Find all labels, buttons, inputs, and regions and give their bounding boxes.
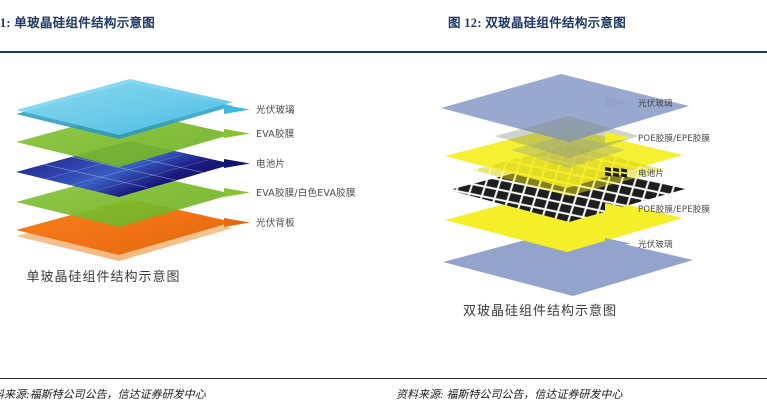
arrow-icon-eva-upper — [224, 127, 250, 140]
arrow-icon-eva-lower — [224, 186, 250, 199]
arrow-icon-cells — [605, 166, 631, 179]
callout-solar-cells: 电池片 — [605, 166, 664, 179]
source-note-right: 资料来源: 福斯特公司公告，信达证券研发中心 — [396, 386, 622, 402]
callout-label-text: 光伏背板 — [256, 215, 295, 229]
callout-poe-epe-upper: POE胶膜/EPE胶膜 — [605, 131, 710, 144]
callout-label-text: 光伏玻璃 — [638, 238, 673, 250]
callout-solar-cells: 电池片 — [224, 156, 285, 170]
figure-footer-left: 料来源:福斯特公司公告，信达证券研发中心 — [0, 376, 383, 418]
figure-title-right: 图 12: 双玻晶硅组件结构示意图 — [448, 14, 626, 32]
callout-label-text: POE胶膜/EPE胶膜 — [638, 203, 710, 215]
arrow-icon-glass-top — [605, 96, 631, 109]
arrow-icon-glass — [224, 103, 250, 116]
diagram-caption-right: 双玻晶硅组件结构示意图 — [348, 300, 732, 319]
figure-header-right: 图 12: 双玻晶硅组件结构示意图 — [383, 14, 767, 38]
callout-label-text: POE胶膜/EPE胶膜 — [638, 132, 710, 144]
callout-eva-film-upper: EVA胶膜 — [224, 126, 294, 140]
callout-photovoltaic-backsheet: 光伏背板 — [224, 215, 295, 229]
footer-divider-right — [383, 378, 767, 379]
double-glass-layer-stack — [383, 44, 767, 334]
callout-label-text: EVA胶膜 — [256, 126, 294, 140]
arrow-icon-glass-bottom — [605, 237, 631, 250]
arrow-icon-cells — [224, 157, 250, 170]
callout-glass-bottom: 光伏玻璃 — [605, 237, 673, 250]
callout-glass-top: 光伏玻璃 — [605, 96, 673, 109]
callout-label-text: 电池片 — [256, 156, 285, 170]
arrow-icon-backsheet — [224, 216, 250, 229]
figure-page: 11: 单玻晶硅组件结构示意图 — [0, 0, 767, 418]
arrow-icon-poe-upper — [605, 131, 631, 144]
figure-header-left: 11: 单玻晶硅组件结构示意图 — [0, 14, 383, 38]
arrow-icon-poe-lower — [605, 202, 631, 215]
callout-photovoltaic-glass: 光伏玻璃 — [224, 102, 295, 116]
diagram-caption-left: 单玻晶硅组件结构示意图 — [0, 266, 295, 285]
callout-label-text: 电池片 — [638, 167, 664, 179]
callout-label-text: EVA胶膜/白色EVA胶膜 — [256, 185, 356, 199]
diagram-double-glass: 光伏玻璃 POE胶膜/EPE胶膜 — [383, 44, 767, 374]
figure-panel-left: 11: 单玻晶硅组件结构示意图 — [0, 0, 383, 418]
diagram-single-glass: 光伏玻璃 EVA胶膜 电池片 — [0, 44, 383, 374]
callout-eva-film-lower: EVA胶膜/白色EVA胶膜 — [224, 185, 356, 199]
footer-divider-left — [0, 378, 383, 379]
figure-panel-right: 图 12: 双玻晶硅组件结构示意图 — [383, 0, 767, 418]
callout-poe-epe-lower: POE胶膜/EPE胶膜 — [605, 202, 710, 215]
callout-label-text: 光伏玻璃 — [638, 97, 673, 109]
figure-title-left: 11: 单玻晶硅组件结构示意图 — [0, 14, 155, 32]
figure-footer-right: 资料来源: 福斯特公司公告，信达证券研发中心 — [383, 376, 767, 418]
source-note-left: 料来源:福斯特公司公告，信达证券研发中心 — [0, 386, 206, 402]
single-glass-layer-stack — [0, 44, 383, 294]
callout-label-text: 光伏玻璃 — [256, 102, 295, 116]
